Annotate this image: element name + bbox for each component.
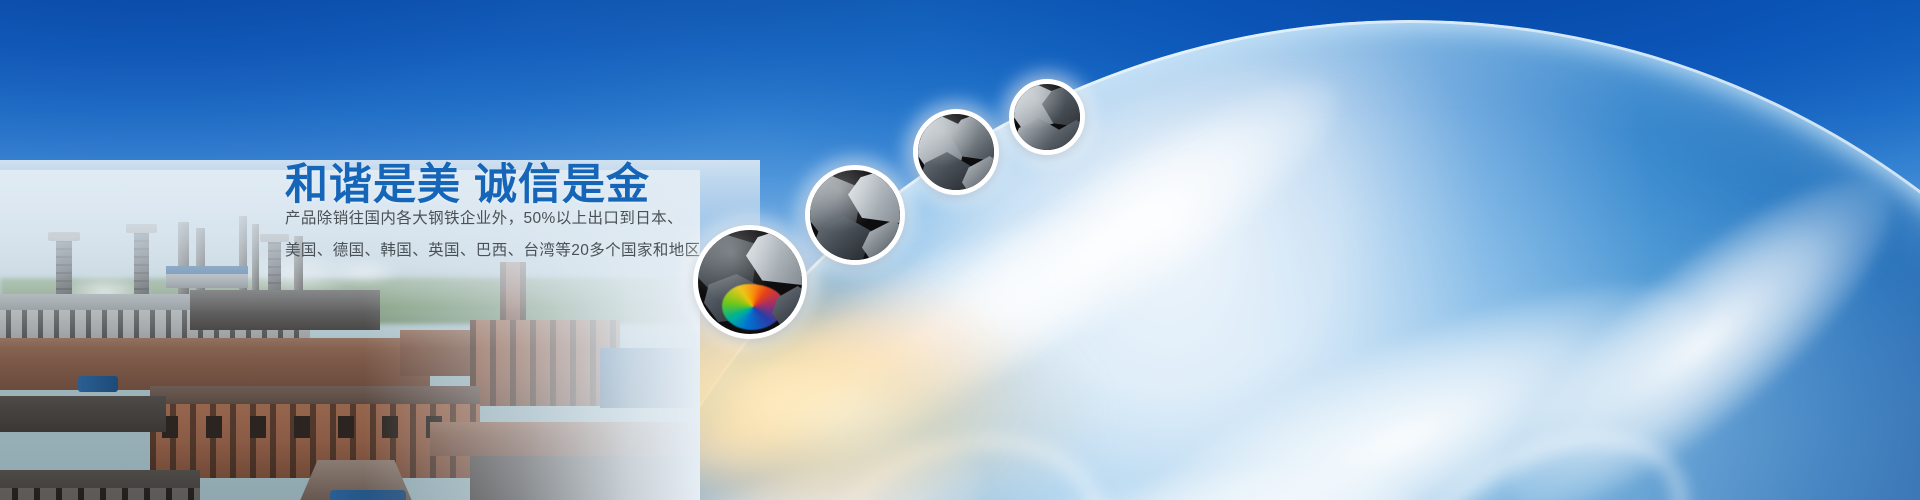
hero-banner: 和谐是美 诚信是金 产品除销往国内各大钢铁企业外，50%以上出口到日本、 美国、… <box>0 0 1920 500</box>
subtitle-line-1: 产品除销往国内各大钢铁企业外，50%以上出口到日本、 <box>285 206 683 228</box>
rock-chunk <box>746 230 802 288</box>
iron-ore-sample-1[interactable] <box>693 225 807 339</box>
rock-chunk <box>862 220 900 260</box>
rock-chunk <box>962 156 994 190</box>
iron-ore-sample-3[interactable] <box>913 109 999 195</box>
ore-photo <box>1014 84 1080 150</box>
iron-ore-sample-4[interactable] <box>1009 79 1085 155</box>
ore-photo <box>698 230 802 334</box>
iron-ore-sample-2[interactable] <box>805 165 905 265</box>
page-title: 和谐是美 诚信是金 <box>285 150 650 212</box>
ore-photo <box>918 114 994 190</box>
subtitle-line-2: 美国、德国、韩国、英国、巴西、台湾等20多个国家和地区... <box>285 238 715 260</box>
ore-photo <box>810 170 900 260</box>
